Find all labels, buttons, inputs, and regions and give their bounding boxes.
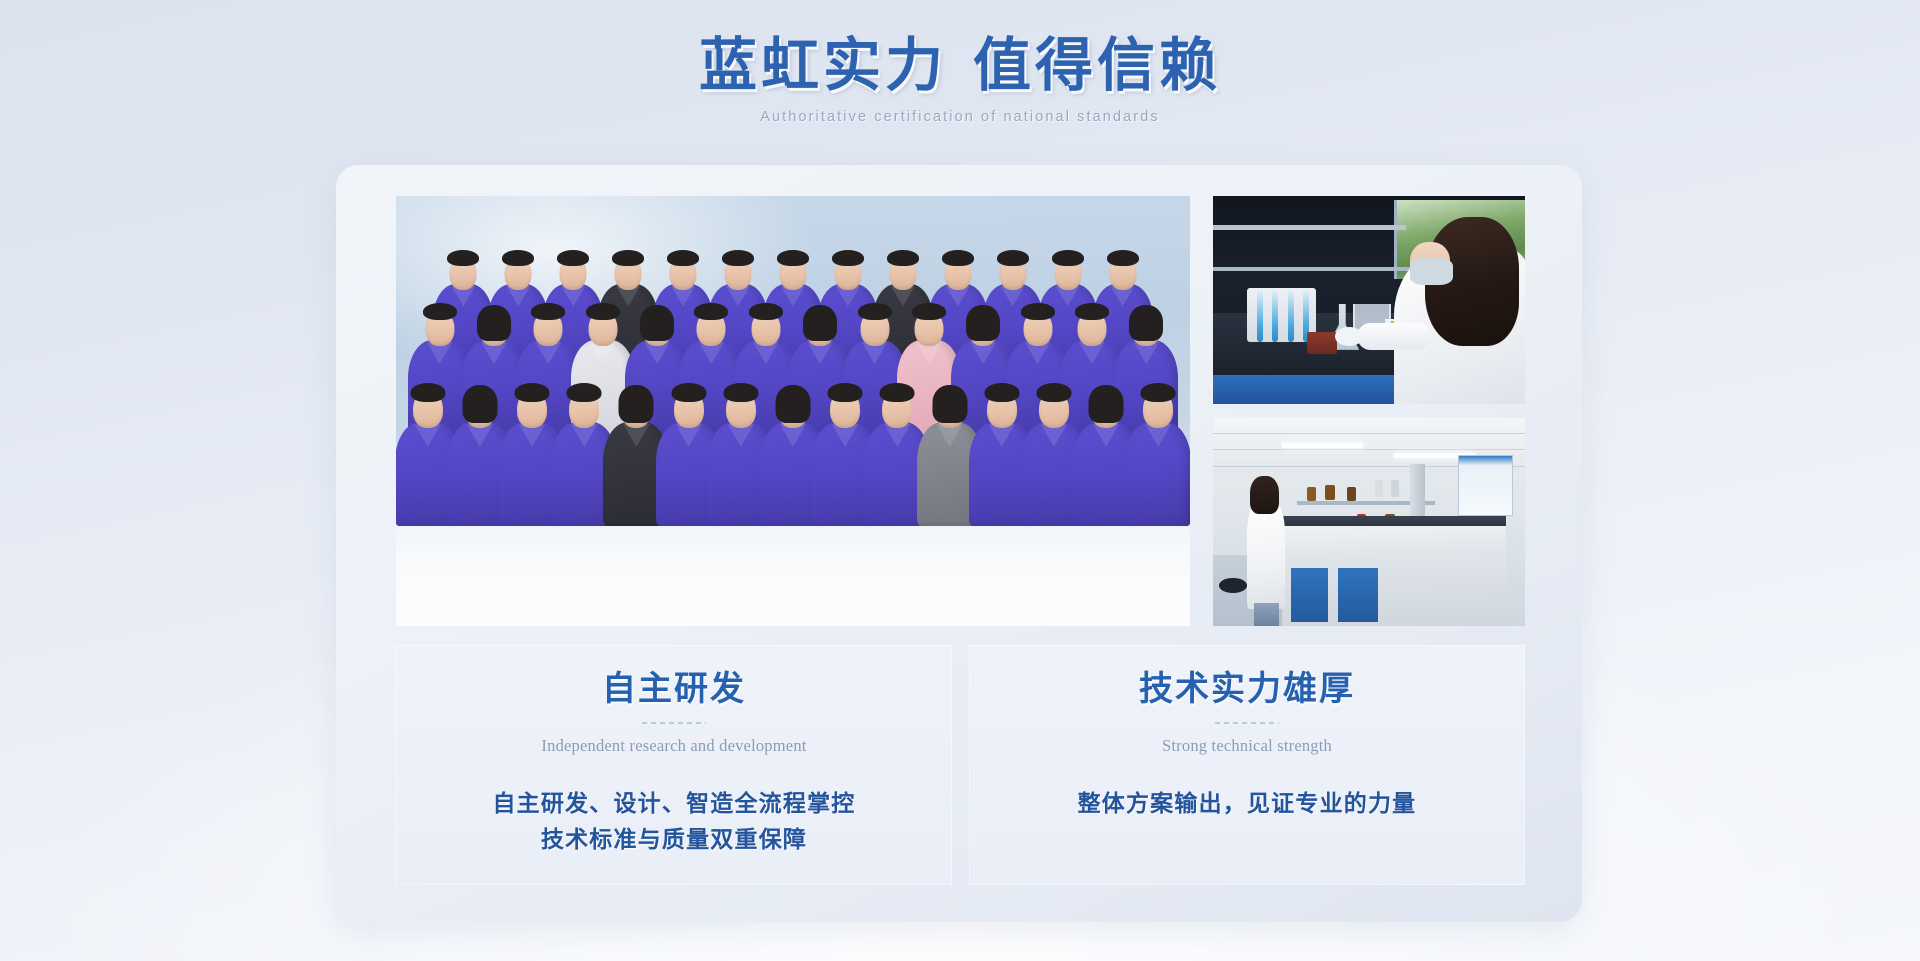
person-hair: [619, 385, 654, 423]
person-hair: [502, 250, 534, 266]
person-hair: [567, 383, 602, 402]
ceiling-lamp-1: [1282, 443, 1363, 448]
person-hair: [803, 305, 837, 341]
person-collar: [1041, 424, 1067, 451]
person-collar: [807, 342, 833, 368]
ceiling-grid-1: [1213, 433, 1525, 434]
feature-card-rnd: 自主研发 Independent research and developmen…: [396, 645, 952, 885]
content-panel: 自主研发 Independent research and developmen…: [336, 165, 1582, 922]
page-header: 蓝虹实力值得信赖 Authoritative certification of …: [0, 0, 1920, 125]
person-collar: [536, 342, 562, 368]
person-hair: [832, 250, 864, 266]
person-hair: [828, 383, 863, 402]
person-collar: [862, 342, 888, 368]
person-hair: [1107, 250, 1139, 266]
lab-shelf-upper: [1213, 225, 1406, 230]
person-hair: [423, 303, 457, 320]
dashed-divider-icon: [642, 722, 706, 724]
person-hair: [515, 383, 550, 402]
person-hair: [966, 305, 1000, 341]
feature-card-tech: 技术实力雄厚 Strong technical strength 整体方案输出，…: [969, 645, 1525, 885]
bench-drawer-1: [1291, 568, 1328, 622]
page-subtitle: Authoritative certification of national …: [0, 109, 1920, 125]
feature-cards: 自主研发 Independent research and developmen…: [396, 645, 1525, 885]
shelf-bottle-4: [1375, 480, 1383, 497]
pipette-2: [1272, 288, 1278, 342]
dashed-divider-icon: [1215, 722, 1279, 724]
scientist-hair: [1250, 476, 1278, 513]
person-hair: [984, 383, 1019, 402]
person-hair: [776, 385, 811, 423]
person-collar: [1093, 424, 1119, 451]
person-hair: [1075, 303, 1109, 320]
scientist-legs: [1254, 603, 1279, 626]
page-title-part2: 值得信赖: [973, 33, 1221, 98]
person-collar: [571, 424, 597, 451]
person-collar: [1134, 342, 1160, 368]
person-collar: [884, 424, 910, 451]
person-collar: [989, 424, 1015, 451]
person-hair: [640, 305, 674, 341]
person-collar: [699, 342, 725, 368]
lab-shelf-lower: [1213, 267, 1419, 271]
lab-stool: [1219, 578, 1247, 593]
group-photo-people: [396, 226, 1190, 526]
person-hair: [749, 303, 783, 320]
person-collar: [753, 342, 779, 368]
page-title-part1: 蓝虹实力: [699, 33, 947, 98]
person-hair: [477, 305, 511, 341]
media-gallery: [396, 196, 1525, 626]
bench-drawer-2: [1338, 568, 1379, 622]
person-collar: [644, 342, 670, 368]
lab-technician-scene: [1213, 196, 1525, 404]
person-hair: [723, 383, 758, 402]
feature-card-rnd-desc-line1: 自主研发、设计、智造全流程掌控: [429, 786, 918, 822]
person-hair: [447, 250, 479, 266]
group-photo-person: [1125, 389, 1190, 526]
person-hair: [586, 303, 620, 320]
lab-technician-photo: [1213, 196, 1525, 404]
person-hair: [858, 303, 892, 320]
ceiling-grid-2: [1213, 449, 1525, 450]
person-hair: [880, 383, 915, 402]
person-hair: [942, 250, 974, 266]
person-hair: [912, 303, 946, 320]
person-collar: [1025, 342, 1051, 368]
person-collar: [728, 424, 754, 451]
shelf-bottle-1: [1307, 487, 1316, 501]
shelf-bottle-5: [1391, 480, 1399, 497]
feature-card-rnd-english: Independent research and development: [396, 736, 952, 756]
feature-card-rnd-description: 自主研发、设计、智造全流程掌控 技术标准与质量双重保障: [429, 786, 918, 857]
feature-card-tech-desc-line1: 整体方案输出，见证专业的力量: [1002, 786, 1491, 822]
lab-room-photo: [1213, 418, 1525, 626]
page-title: 蓝虹实力值得信赖: [0, 0, 1920, 103]
person-collar: [590, 342, 616, 368]
person-hair: [1021, 303, 1055, 320]
feature-card-rnd-desc-line2: 技术标准与质量双重保障: [429, 822, 918, 858]
person-collar: [1145, 424, 1171, 451]
feature-card-tech-english: Strong technical strength: [969, 736, 1525, 756]
wall-notice-board: [1458, 455, 1513, 515]
person-hair: [612, 250, 644, 266]
person-hair: [997, 250, 1029, 266]
person-hair: [462, 385, 497, 423]
person-hair: [1036, 383, 1071, 402]
person-hair: [722, 250, 754, 266]
person-hair: [1141, 383, 1176, 402]
person-hair: [531, 303, 565, 320]
person-collar: [519, 424, 545, 451]
person-hair: [1129, 305, 1163, 341]
person-collar: [481, 342, 507, 368]
person-collar: [936, 424, 962, 451]
shelf-bottle-2: [1325, 485, 1335, 500]
person-hair: [887, 250, 919, 266]
technician-face-mask: [1410, 258, 1454, 285]
person-collar: [780, 424, 806, 451]
pipette-1: [1257, 288, 1263, 342]
person-collar: [427, 342, 453, 368]
person-collar: [467, 424, 493, 451]
scientist-lab-coat: [1247, 501, 1284, 609]
person-hair: [777, 250, 809, 266]
technician-arm: [1357, 323, 1432, 350]
person-collar: [415, 424, 441, 451]
person-hair: [671, 383, 706, 402]
person-hair: [1089, 385, 1124, 423]
lab-room-scene: [1213, 418, 1525, 626]
person-hair: [1052, 250, 1084, 266]
shelf-bottle-3: [1347, 487, 1356, 501]
feature-card-tech-title: 技术实力雄厚: [969, 667, 1525, 713]
person-hair: [694, 303, 728, 320]
person-collar: [970, 342, 996, 368]
person-collar: [1079, 342, 1105, 368]
person-hair: [557, 250, 589, 266]
person-collar: [832, 424, 858, 451]
person-hair: [667, 250, 699, 266]
person-hair: [410, 383, 445, 402]
person-collar: [675, 424, 701, 451]
people-row-front: [396, 376, 1190, 526]
feature-card-tech-description: 整体方案输出，见证专业的力量: [1002, 786, 1491, 822]
person-hair: [932, 385, 967, 423]
person-collar: [916, 342, 942, 368]
feature-card-rnd-title: 自主研发: [396, 667, 952, 713]
group-photo: [396, 196, 1190, 626]
technician-glove: [1335, 327, 1363, 346]
person-uniform: [1125, 422, 1190, 526]
pipette-3: [1288, 288, 1294, 342]
person-collar: [623, 424, 649, 451]
